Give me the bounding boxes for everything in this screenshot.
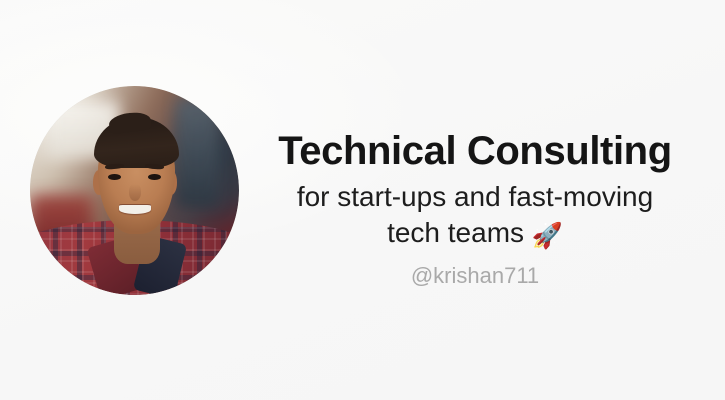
slide-canvas: Technical Consulting for start-ups and f… [0, 0, 725, 400]
social-handle: @krishan711 [258, 263, 692, 289]
avatar [30, 86, 239, 295]
portrait-backdrop-navy [176, 99, 218, 208]
nose [129, 184, 140, 201]
rocket-icon: 🚀 [532, 224, 563, 249]
portrait-photo [30, 86, 239, 295]
subtitle-line-2: tech teams [387, 217, 524, 248]
text-block: Technical Consulting for start-ups and f… [258, 130, 692, 289]
subtitle: for start-ups and fast-moving tech teams… [258, 179, 692, 251]
page-title: Technical Consulting [258, 130, 692, 173]
subtitle-line-1: for start-ups and fast-moving [297, 181, 653, 212]
